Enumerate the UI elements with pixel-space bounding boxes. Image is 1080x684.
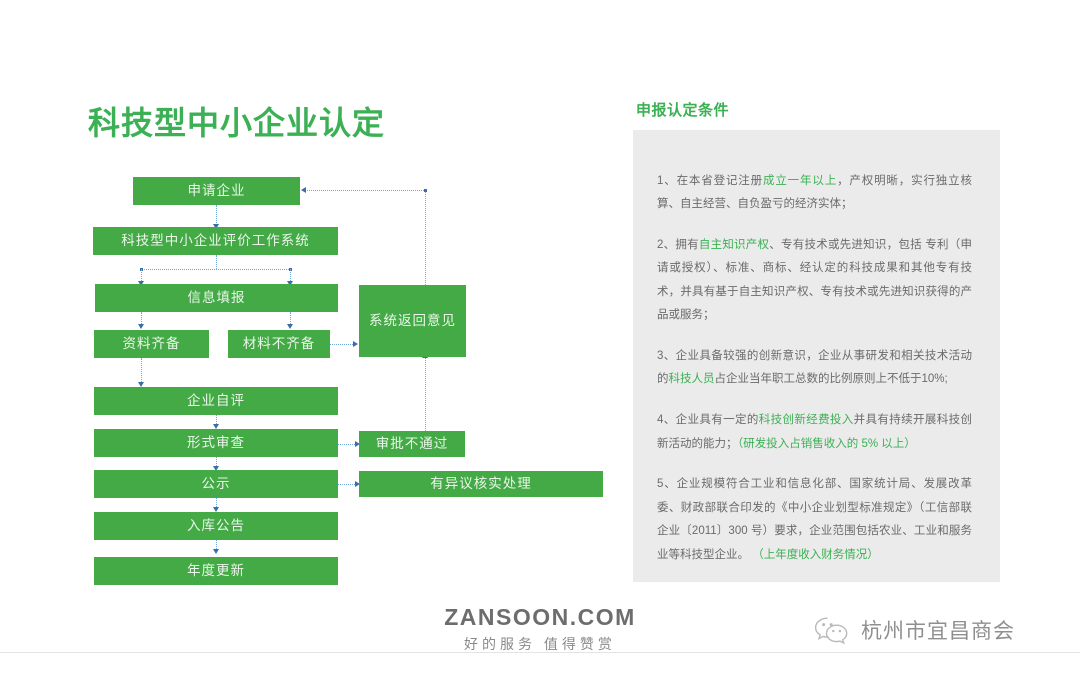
criterion-2: 2、拥有自主知识产权、专有技术或先进知识，包括 专利（申请或授权）、标准、商标、…	[657, 234, 972, 328]
flow-node-docs-ready[interactable]: 资料齐备	[94, 330, 209, 358]
connector-eval-down	[216, 255, 217, 269]
footer-divider	[0, 652, 1080, 653]
connector-docsready-to-selfeval	[141, 358, 142, 384]
wechat-label: 杭州市宜昌商会	[861, 615, 1015, 645]
flow-node-eval-system[interactable]: 科技型中小企业评价工作系统	[93, 227, 338, 255]
connector-feedback-up	[425, 190, 426, 285]
highlighted-text: 自主知识产权	[699, 239, 769, 251]
highlighted-text: 成立一年以上	[763, 175, 837, 187]
connector-notapproved-up	[425, 357, 426, 431]
body-text: 2、拥有	[657, 239, 699, 251]
wechat-icon	[812, 614, 852, 646]
arrowhead-docsready	[138, 324, 144, 329]
highlighted-text: （研发投入占销售收入的 5% 以上）	[738, 438, 916, 450]
criterion-1: 1、在本省登记注册成立一年以上，产权明晰，实行独立核算、自主经营、自负盈亏的经济…	[657, 170, 972, 217]
certification-flowchart: 申请企业 科技型中小企业评价工作系统 信息填报 资料齐备 材料不齐备 系统返回意…	[0, 0, 640, 600]
connector-feedback-to-apply	[305, 190, 426, 191]
connector-formreview-to-notapproved	[337, 444, 357, 445]
arrowhead-apply-loop	[301, 187, 306, 193]
highlighted-text: 科技人员	[669, 373, 715, 385]
criterion-3: 3、企业具备较强的创新意识，企业从事研发和相关技术活动的科技人员占企业当年职工总…	[657, 345, 972, 392]
flow-node-not-approved[interactable]: 审批不通过	[359, 431, 465, 457]
flow-node-docs-missing[interactable]: 材料不齐备	[228, 330, 330, 358]
body-text: 占企业当年职工总数的比例原则上不低于10%;	[715, 373, 948, 385]
highlighted-text: （上年度收入财务情况）	[752, 549, 879, 561]
body-text: 、专有技术或先进知识，包括 专利（申请或授权）、标准、商标、经认定的科技成果和其…	[657, 239, 972, 322]
connector-split-bus	[141, 269, 291, 270]
flow-node-apply[interactable]: 申请企业	[133, 177, 300, 205]
connector-docsmissing-to-feedback	[330, 344, 355, 345]
flow-node-db-notice[interactable]: 入库公告	[94, 512, 338, 540]
flow-node-info-fill[interactable]: 信息填报	[95, 284, 338, 312]
flow-node-form-review[interactable]: 形式审查	[94, 429, 338, 457]
wechat-badge[interactable]: 杭州市宜昌商会	[812, 614, 1015, 646]
connector-publicity-to-objection	[337, 484, 357, 485]
flow-node-publicity[interactable]: 公示	[94, 470, 338, 498]
flow-node-objection[interactable]: 有异议核实处理	[359, 471, 603, 497]
flow-node-sys-feedback[interactable]: 系统返回意见	[359, 285, 466, 357]
arrowhead-annual	[213, 549, 219, 554]
criterion-5: 5、企业规模符合工业和信息化部、国家统计局、发展改革委、财政部联合印发的《中小企…	[657, 473, 972, 567]
criterion-4: 4、企业具有一定的科技创新经费投入并具有持续开展科技创新活动的能力；（研发投入占…	[657, 409, 972, 456]
body-text: 4、企业具有一定的	[657, 414, 759, 426]
criteria-panel: 1、在本省登记注册成立一年以上，产权明晰，实行独立核算、自主经营、自负盈亏的经济…	[633, 130, 1000, 582]
highlighted-text: 科技创新经费投入	[759, 414, 854, 426]
arrowhead-feedback	[353, 341, 358, 347]
arrowhead-docsmissing	[287, 324, 293, 329]
flow-node-annual-update[interactable]: 年度更新	[94, 557, 338, 585]
panel-heading: 申报认定条件	[636, 99, 729, 120]
flow-node-self-eval[interactable]: 企业自评	[94, 387, 338, 415]
body-text: 1、在本省登记注册	[657, 175, 763, 187]
feedback-corner-dot	[424, 189, 427, 192]
